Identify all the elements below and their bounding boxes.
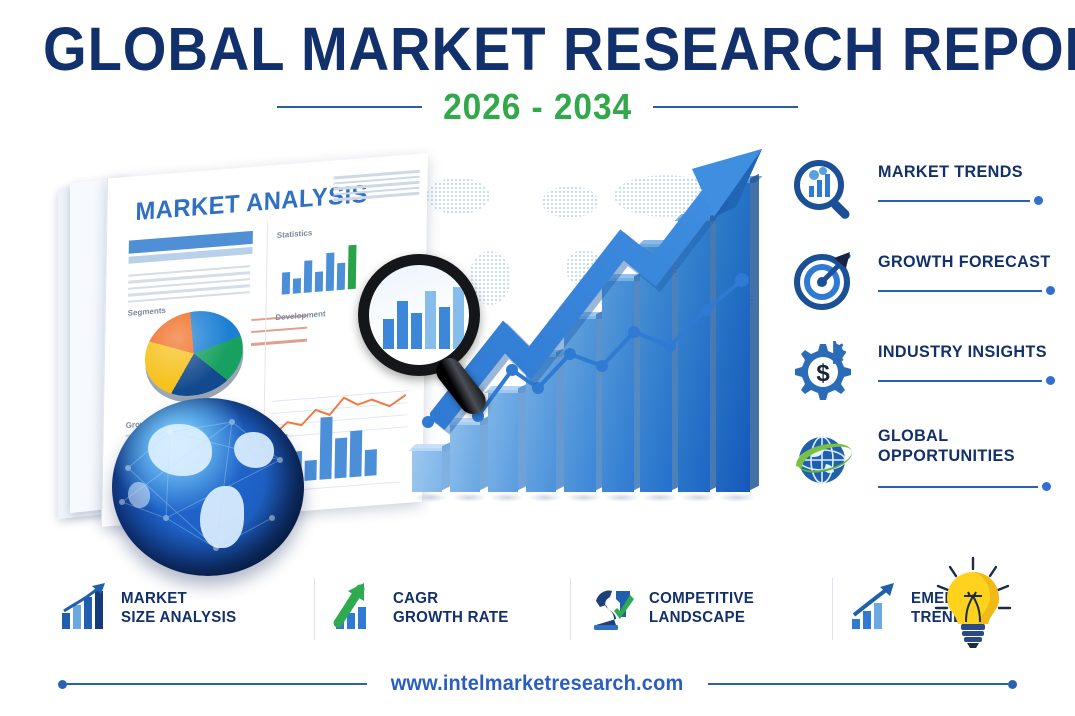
report-pie-chart	[141, 303, 246, 404]
bottom-feature-row: MARKETSIZE ANALYSIS CAGRGROWTH RATE	[46, 566, 1036, 650]
bar-chart-arrow-icon	[58, 581, 112, 635]
gear-dollar-icon: $	[792, 338, 856, 402]
bottom-item-label: CAGRGROWTH RATE	[393, 589, 509, 627]
poster-header: GLOBAL MARKET RESEARCH REPORT 2026 - 203…	[0, 18, 1075, 128]
magnifying-glass-icon	[352, 250, 502, 410]
subtitle-rule-left	[277, 106, 422, 108]
footer-rule-right	[708, 683, 1008, 685]
bottom-item-label: MARKETSIZE ANALYSIS	[121, 589, 236, 627]
report-section-statistics: Statistics	[277, 228, 313, 240]
bottom-divider	[314, 578, 315, 640]
magnifier-lens	[358, 254, 480, 376]
feature-label: MARKET TRENDS	[878, 162, 1064, 182]
bottom-divider	[832, 578, 833, 640]
feature-item-global-opportunities[interactable]: GLOBAL OPPORTUNITIES	[786, 424, 1075, 516]
feature-item-growth-forecast[interactable]: GROWTH FORECAST	[786, 246, 1075, 326]
feature-label: INDUSTRY INSIGHTS	[878, 342, 1064, 362]
globe-swoosh-icon	[792, 426, 856, 490]
feature-dot	[1042, 482, 1051, 491]
green-arrow-bars-icon	[330, 581, 384, 635]
feature-underline	[878, 380, 1042, 382]
bottom-divider	[570, 578, 571, 640]
feature-dot	[1046, 376, 1055, 385]
feature-underline	[878, 290, 1042, 292]
website-url[interactable]: www.intelmarketresearch.com	[391, 672, 684, 696]
bottom-item-label: COMPETITIVELANDSCAPE	[649, 589, 754, 627]
bottom-item-cagr-growth-rate[interactable]: CAGRGROWTH RATE	[330, 566, 565, 650]
report-period: 2026 - 2034	[443, 86, 632, 128]
globe-network-mesh	[112, 398, 304, 576]
poster-canvas: GLOBAL MARKET RESEARCH REPORT 2026 - 203…	[0, 0, 1075, 716]
feature-label: GROWTH FORECAST	[878, 252, 1064, 272]
feature-dot	[1034, 196, 1043, 205]
magnifier-handle	[431, 353, 491, 419]
target-arrow-icon	[792, 248, 856, 312]
feature-dot	[1046, 286, 1055, 295]
svg-text:$: $	[816, 360, 830, 387]
lightbulb-icon	[930, 556, 1016, 652]
report-bar-chart-statistics	[282, 241, 357, 295]
footer: www.intelmarketresearch.com	[0, 664, 1075, 704]
network-globe-icon	[112, 398, 304, 576]
report-body-text	[128, 265, 251, 307]
feature-item-market-trends[interactable]: MARKET TRENDS	[786, 156, 1075, 236]
feature-item-industry-insights[interactable]: $ INDUSTRY INSIGHTS	[786, 336, 1075, 416]
trend-arrow-bars-icon	[848, 581, 902, 635]
subtitle-row: 2026 - 2034	[0, 86, 1075, 128]
report-section-segments: Segments	[128, 306, 166, 318]
page-title: GLOBAL MARKET RESEARCH REPORT	[43, 18, 1032, 80]
footer-rule-left	[67, 683, 367, 685]
feature-underline	[878, 200, 1030, 202]
subtitle-rule-right	[653, 106, 798, 108]
feature-underline	[878, 486, 1038, 488]
feature-list: MARKET TRENDS GROWTH FORECAST $	[786, 150, 1075, 510]
bottom-item-market-size-analysis[interactable]: MARKETSIZE ANALYSIS	[58, 566, 308, 650]
feature-label: GLOBAL OPPORTUNITIES	[878, 426, 1064, 466]
magnifier-chart-icon	[792, 158, 856, 222]
chess-check-icon	[586, 581, 640, 635]
bottom-item-competitive-landscape[interactable]: COMPETITIVELANDSCAPE	[586, 566, 826, 650]
